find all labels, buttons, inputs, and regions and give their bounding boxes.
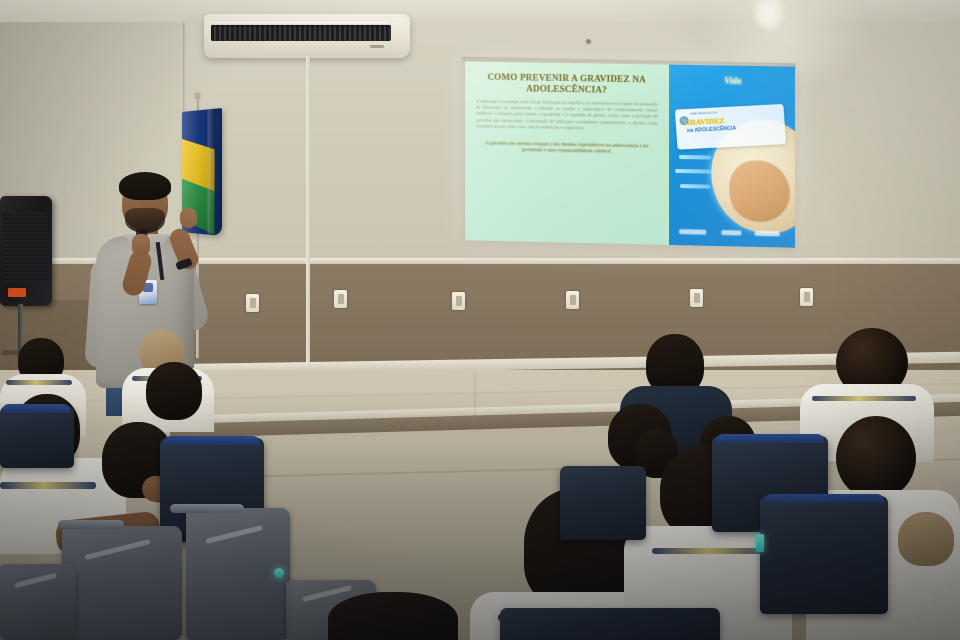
poster-partner-logo [679,229,707,235]
speaker-brand-logo [8,288,26,297]
auditorium-seat-back [0,564,76,640]
presenter-beard [125,208,165,233]
poster-footer-logos [669,220,795,239]
slide-poster-panel: Vida PREVENÇÃO DA GRAVIDEZ na ADOLESCÊNC… [669,65,795,248]
poster-ray [675,169,713,174]
audience-head [328,592,458,640]
seat-blue-trim [716,434,824,443]
wall-outlet [246,294,259,312]
pa-speaker [0,196,52,306]
audience-head [898,512,954,566]
poster-brand-logo: Vida [696,74,769,99]
phone-screen-glow [756,534,764,552]
seat-blue-trim [164,436,260,445]
poster-title-band: PREVENÇÃO DA GRAVIDEZ na ADOLESCÊNCIA [675,104,786,149]
poster-ray [679,155,712,160]
slide-title: COMO PREVENIR A GRAVIDEZ NA ADOLESCÊNCIA… [474,72,660,97]
auditorium-seat [760,496,888,614]
seat-armrest [170,504,244,513]
slide-text-panel: COMO PREVENIR A GRAVIDEZ NA ADOLESCÊNCIA… [465,61,668,244]
projection-screen: COMO PREVENIR A GRAVIDEZ NA ADOLESCÊNCIA… [465,61,795,247]
phone-screen-glow [274,568,284,578]
speaker-grille [2,212,48,282]
poster-band-kicker: PREVENÇÃO DA [690,111,717,116]
audience [0,320,960,640]
auditorium-photo: COMO PREVENIR A GRAVIDEZ NA ADOLESCÊNCIA… [0,0,960,640]
ceiling-sensor-dot [586,39,591,44]
uniform-collar-stripe [812,396,916,401]
slide-footer-text: A garantia dos direitos sexuais e dos di… [474,141,660,157]
wall-outlet [800,288,813,306]
ac-side-cap [392,18,408,54]
seat-blue-trim [764,494,884,503]
presentation-slide: COMO PREVENIR A GRAVIDEZ NA ADOLESCÊNCIA… [465,61,795,247]
flag-pole-finial [194,92,201,100]
wall-outlet [334,290,347,308]
presenter-raised-hand [180,208,197,228]
poster-partner-logo [754,231,779,237]
audience-head [836,416,916,500]
poster-partner-logo [722,230,742,235]
auditorium-seat-back [62,526,182,640]
audience-head [146,362,202,420]
auditorium-seat [560,466,646,540]
slide-body-text: A educação é estratégia mais eficaz. Edu… [474,98,660,132]
seat-armrest [58,520,124,529]
ac-indicator-led [370,45,384,48]
ac-vent-louvers [211,25,391,41]
poster-band-subhead: na ADOLESCÊNCIA [687,126,736,135]
poster-ray [680,184,710,189]
uniform-collar-stripe [0,482,96,489]
wall-outlet [690,289,703,307]
auditorium-seat [500,608,720,640]
air-conditioner-unit [204,14,410,58]
presenter-hair [119,172,171,200]
auditorium-seat [0,406,74,468]
wall-outlet [452,292,465,310]
wall-outlet [566,291,579,309]
uniform-collar-stripe [6,380,72,385]
seat-blue-trim [2,404,70,413]
presenter-mic-hand [132,234,150,256]
